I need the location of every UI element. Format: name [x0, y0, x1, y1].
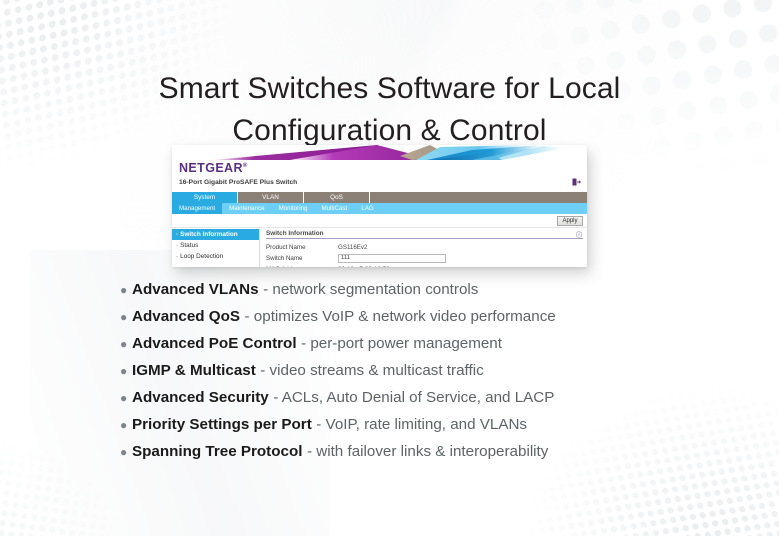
- netgear-logo-text: NETGEAR: [179, 161, 243, 175]
- feature-term: Priority Settings per Port: [132, 416, 312, 433]
- admin-sidebar: ·Switch Information ·Status ·Loop Detect…: [172, 228, 260, 267]
- feature-description: - video streams & multicast traffic: [260, 362, 483, 379]
- feature-term: Advanced PoE Control: [132, 335, 297, 352]
- subtab-multicast[interactable]: MultiCast: [314, 203, 354, 214]
- tab-qos[interactable]: QoS: [304, 192, 370, 203]
- switch-information-panel: Switch Information ⓘ Product Name GS116E…: [260, 228, 587, 267]
- feature-term: IGMP & Multicast: [132, 362, 256, 379]
- feature-term: Spanning Tree Protocol: [132, 443, 302, 460]
- sub-tab-bar: Management Maintenance Monitoring MultiC…: [172, 203, 587, 214]
- bullet-dot-icon: ●: [120, 416, 132, 434]
- admin-body: ·Switch Information ·Status ·Loop Detect…: [172, 228, 587, 267]
- feature-description: - ACLs, Auto Denial of Service, and LACP: [273, 389, 554, 406]
- list-item: ● Advanced Security - ACLs, Auto Denial …: [120, 389, 760, 416]
- panel-heading: Switch Information ⓘ: [266, 230, 583, 239]
- sub-tab-filler: [381, 203, 587, 214]
- bullet-dot-icon: ●: [120, 281, 132, 299]
- subtab-monitoring[interactable]: Monitoring: [272, 203, 315, 214]
- tab-vlan[interactable]: VLAN: [238, 192, 304, 203]
- list-item: ● Priority Settings per Port - VoIP, rat…: [120, 416, 760, 443]
- mac-address-value: 00-18-e7-86-16-58: [338, 266, 390, 268]
- subtab-management[interactable]: Management: [172, 203, 222, 214]
- product-name-label: Product Name: [266, 244, 338, 251]
- page-title-line-1: Smart Switches Software for Local: [0, 68, 779, 110]
- netgear-brand-row: NETGEAR® 16-Port Gigabit ProSAFE Plus Sw…: [172, 160, 587, 192]
- list-item: ● Spanning Tree Protocol - with failover…: [120, 443, 760, 470]
- panel-heading-label: Switch Information: [266, 230, 324, 237]
- main-tab-filler: [370, 192, 587, 203]
- switch-name-input[interactable]: [338, 254, 446, 263]
- netgear-banner-graphic: [172, 145, 587, 160]
- apply-bar: Apply: [172, 214, 587, 228]
- sidebar-item-loop-detection[interactable]: ·Loop Detection: [172, 251, 259, 262]
- netgear-logo: NETGEAR®: [179, 161, 248, 175]
- feature-list: ● Advanced VLANs - network segmentation …: [120, 281, 760, 470]
- feature-description: - network segmentation controls: [263, 281, 478, 298]
- sidebar-item-switch-information[interactable]: ·Switch Information: [172, 229, 259, 240]
- help-question-icon[interactable]: ⓘ: [576, 230, 582, 239]
- subtab-lag[interactable]: LAG: [354, 203, 380, 214]
- logout-icon[interactable]: [572, 178, 581, 186]
- main-tab-bar: System VLAN QoS: [172, 192, 587, 203]
- list-item: ● Advanced PoE Control - per-port power …: [120, 335, 760, 362]
- feature-description: - per-port power management: [301, 335, 502, 352]
- feature-term: Advanced VLANs: [132, 281, 259, 298]
- apply-button[interactable]: Apply: [557, 216, 583, 226]
- switch-admin-screenshot: NETGEAR® 16-Port Gigabit ProSAFE Plus Sw…: [172, 145, 587, 267]
- sidebar-bullet-icon: ·: [176, 242, 178, 249]
- field-row-product-name: Product Name GS116Ev2: [266, 242, 583, 252]
- field-row-switch-name: Switch Name: [266, 253, 583, 263]
- tab-system[interactable]: System: [172, 192, 238, 203]
- mac-address-label: MAC Address: [266, 266, 338, 268]
- bullet-dot-icon: ●: [120, 362, 132, 380]
- feature-term: Advanced Security: [132, 389, 269, 406]
- bullet-dot-icon: ●: [120, 335, 132, 353]
- switch-model-label: 16-Port Gigabit ProSAFE Plus Switch: [179, 179, 297, 186]
- bullet-dot-icon: ●: [120, 389, 132, 407]
- bullet-dot-icon: ●: [120, 443, 132, 461]
- subtab-maintenance[interactable]: Maintenance: [222, 203, 271, 214]
- feature-description: - with failover links & interoperability: [307, 443, 548, 460]
- list-item: ● Advanced VLANs - network segmentation …: [120, 281, 760, 308]
- sidebar-item-status-label: Status: [180, 242, 198, 249]
- sidebar-item-switch-information-label: Switch Information: [180, 231, 238, 238]
- feature-description: - optimizes VoIP & network video perform…: [245, 308, 556, 325]
- product-name-value: GS116Ev2: [338, 244, 367, 251]
- netgear-trademark: ®: [243, 163, 248, 169]
- sidebar-item-status[interactable]: ·Status: [172, 240, 259, 251]
- list-item: ● Advanced QoS - optimizes VoIP & networ…: [120, 308, 760, 335]
- switch-name-label: Switch Name: [266, 255, 338, 262]
- feature-term: Advanced QoS: [132, 308, 240, 325]
- sidebar-bullet-icon: ·: [176, 231, 178, 238]
- sidebar-bullet-icon: ·: [176, 253, 178, 260]
- page-title: Smart Switches Software for Local Config…: [0, 68, 779, 152]
- sidebar-item-loop-detection-label: Loop Detection: [180, 253, 223, 260]
- field-row-mac-address: MAC Address 00-18-e7-86-16-58: [266, 264, 583, 267]
- bullet-dot-icon: ●: [120, 308, 132, 326]
- feature-description: - VoIP, rate limiting, and VLANs: [316, 416, 527, 433]
- list-item: ● IGMP & Multicast - video streams & mul…: [120, 362, 760, 389]
